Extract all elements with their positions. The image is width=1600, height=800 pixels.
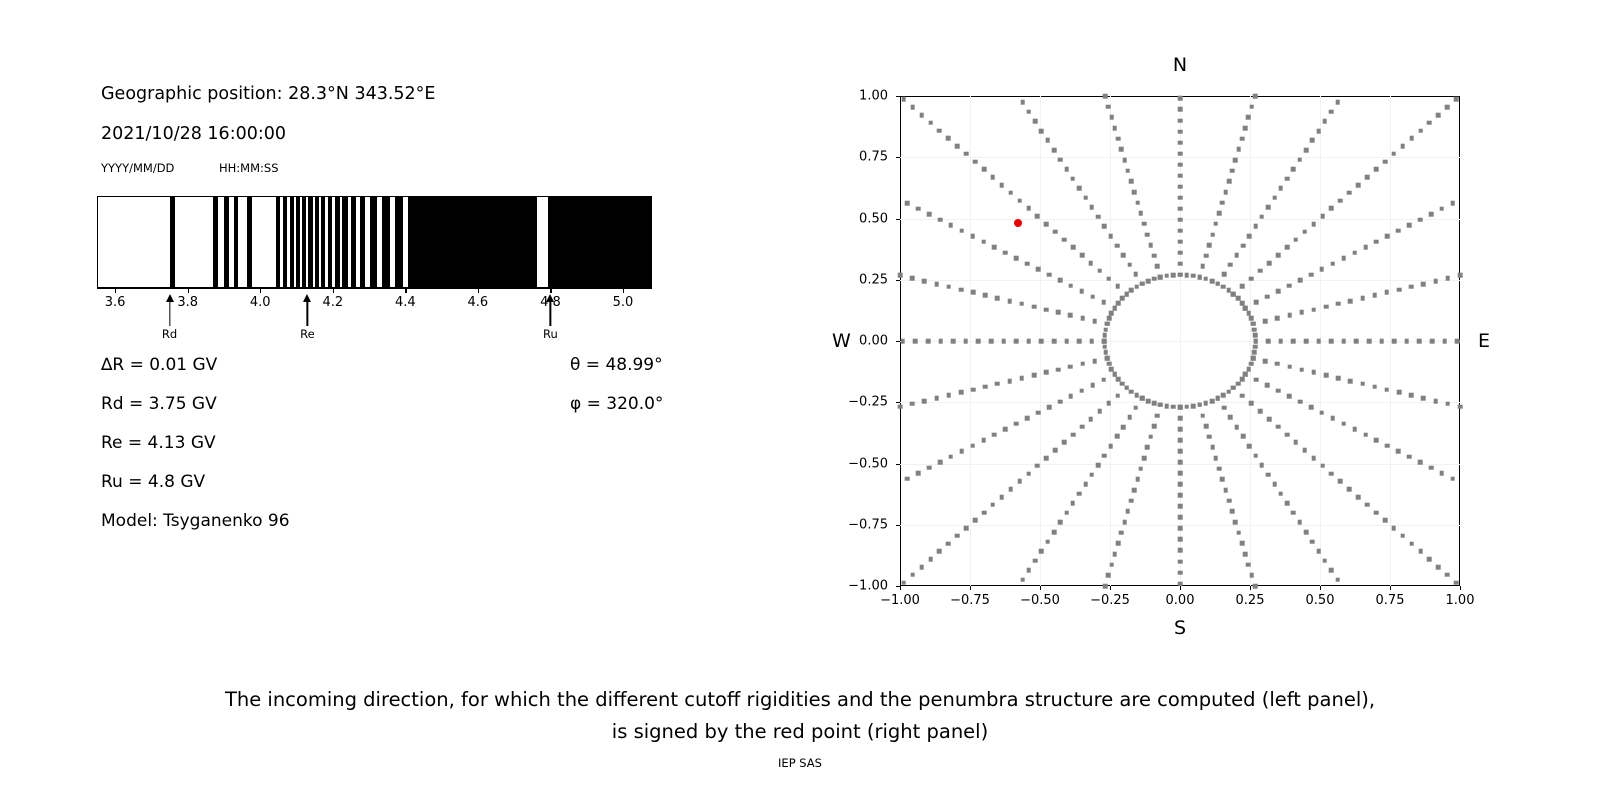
scatter-point [926, 339, 931, 344]
scatter-point [1329, 206, 1334, 211]
scatter-point [1287, 313, 1292, 318]
y-axis-tick [896, 157, 900, 158]
rigidity-axis-tick-label: 5.0 [613, 295, 634, 310]
scatter-point [1155, 264, 1160, 269]
param-re: Re = 4.13 GV [101, 433, 216, 453]
scatter-point [1341, 421, 1346, 426]
scatter-point [1275, 362, 1280, 367]
scatter-point [1214, 456, 1219, 461]
scatter-point [934, 282, 939, 287]
scatter-point [1014, 339, 1019, 344]
scatter-point [1071, 176, 1076, 181]
scatter-point [1129, 498, 1134, 503]
scatter-point [981, 438, 986, 443]
scatter-point [1053, 230, 1058, 235]
scatter-point [1231, 385, 1236, 390]
scatter-point [1263, 319, 1268, 324]
scatter-point [910, 573, 915, 578]
scatter-point [1178, 273, 1183, 278]
scatter-point [1260, 463, 1265, 468]
scatter-point [1184, 273, 1189, 278]
scatter-point [1178, 151, 1183, 156]
scatter-point [1027, 110, 1032, 115]
scatter-point [1365, 175, 1370, 180]
scatter-point [1451, 201, 1456, 206]
scatter-point [1372, 293, 1377, 298]
scatter-point [1132, 488, 1137, 493]
y-axis-tick [896, 586, 900, 587]
x-axis-tick [970, 586, 971, 590]
scatter-point [1080, 253, 1085, 258]
scatter-point [1210, 279, 1215, 284]
scatter-point [1324, 304, 1329, 309]
scatter-point [1251, 356, 1256, 361]
scatter-point [1240, 284, 1245, 289]
scatter-point [1089, 261, 1094, 266]
penumbra-forbidden-band [370, 197, 377, 287]
scatter-point [1120, 296, 1125, 301]
scatter-point [1079, 388, 1084, 393]
scatter-point [1445, 401, 1450, 406]
scatter-point [1052, 339, 1057, 344]
scatter-point [1249, 316, 1254, 321]
x-axis-tick-label: 0.00 [1166, 593, 1195, 608]
penumbra-forbidden-band [315, 197, 319, 287]
scatter-point [992, 432, 997, 437]
scatter-point [1372, 384, 1377, 389]
scatter-point [1071, 245, 1076, 250]
scatter-point [1119, 530, 1124, 535]
scatter-point [1421, 282, 1426, 287]
scatter-point [1374, 239, 1379, 244]
scatter-point [1251, 322, 1256, 327]
scatter-point [1047, 273, 1052, 278]
scatter-point [1204, 277, 1209, 282]
x-axis-tick-label: 1.00 [1446, 593, 1475, 608]
scatter-point [1329, 339, 1334, 344]
scatter-point [1020, 577, 1025, 582]
scatter-point [1102, 344, 1107, 349]
scatter-point [1316, 129, 1321, 134]
scatter-point [1247, 444, 1252, 449]
datetime-label: 2021/10/28 16:00:00 [101, 124, 286, 144]
scatter-point [1336, 376, 1341, 381]
scatter-point [1109, 311, 1114, 316]
penumbra-forbidden-band [351, 197, 356, 287]
x-axis-tick-label: −0.75 [950, 593, 990, 608]
scatter-point [983, 384, 988, 389]
scatter-point [1201, 413, 1206, 418]
scatter-point [970, 443, 975, 448]
scatter-point [1062, 237, 1067, 242]
scatter-point [1392, 526, 1397, 531]
penumbra-forbidden-band [247, 197, 251, 287]
scatter-point [1409, 136, 1414, 141]
rigidity-axis-tick [260, 288, 261, 293]
rigidity-axis-line [97, 288, 652, 289]
scatter-point [1106, 573, 1111, 578]
scatter-point [1374, 167, 1379, 172]
scatter-point [1234, 425, 1239, 430]
scatter-point [1105, 322, 1110, 327]
scatter-point [1064, 339, 1069, 344]
scatter-point [1272, 195, 1277, 200]
scatter-point [1090, 295, 1095, 300]
scatter-point [919, 565, 924, 570]
scatter-point [1071, 501, 1076, 506]
scatter-point [1374, 510, 1379, 515]
scatter-point [1068, 364, 1073, 369]
scatter-point [1032, 304, 1037, 309]
scatter-point [1089, 417, 1094, 422]
scatter-point [1178, 217, 1183, 222]
scatter-point [898, 404, 903, 409]
scatter-point [1341, 256, 1346, 261]
scatter-point [1080, 316, 1085, 321]
compass-east-label: E [1478, 330, 1490, 352]
scatter-point [1241, 434, 1246, 439]
scatter-point [1249, 573, 1254, 578]
penumbra-forbidden-band [360, 197, 365, 287]
scatter-point [1285, 432, 1290, 437]
y-axis-tick [896, 280, 900, 281]
scatter-point [1433, 399, 1438, 404]
y-axis-tick-label: −0.25 [848, 395, 888, 410]
scatter-point [1036, 267, 1041, 272]
scatter-point [913, 339, 918, 344]
scatter-point [910, 105, 915, 110]
scatter-point [1342, 339, 1347, 344]
scatter-point [1044, 307, 1049, 312]
scatter-point [1360, 296, 1365, 301]
scatter-point [1407, 223, 1412, 228]
scatter-point [1258, 409, 1263, 414]
x-axis-tick-label: −0.50 [1020, 593, 1060, 608]
rigidity-axis-tick [405, 288, 406, 293]
scatter-point [938, 460, 943, 465]
scatter-point [1171, 405, 1176, 410]
penumbra-forbidden-band [548, 197, 652, 287]
scatter-point [951, 339, 956, 344]
scatter-point [1058, 278, 1063, 283]
scatter-point [1240, 393, 1245, 398]
scatter-point [1103, 350, 1108, 355]
scatter-point [1260, 215, 1265, 220]
caption-line-2: is signed by the red point (right panel) [0, 716, 1600, 748]
scatter-point [1017, 198, 1022, 203]
footer-credit: IEP SAS [0, 756, 1600, 770]
scatter-point [976, 339, 981, 344]
scatter-point [1178, 239, 1183, 244]
scatter-point [1106, 276, 1111, 281]
scatter-point [1142, 222, 1147, 227]
y-axis-tick-label: −0.75 [848, 517, 888, 532]
scatter-point [1265, 383, 1270, 388]
x-axis-tick [1250, 586, 1251, 590]
penumbra-forbidden-band [276, 197, 280, 287]
scatter-point [1106, 401, 1111, 406]
scatter-point [995, 382, 1000, 387]
scatter-point [1249, 361, 1254, 366]
scatter-point [1311, 456, 1316, 461]
scatter-point [1102, 453, 1107, 458]
scatter-point [1146, 399, 1151, 404]
rigidity-axis-tick-label: 4.2 [322, 295, 343, 310]
penumbra-forbidden-band [408, 197, 537, 287]
scatter-point [1276, 289, 1281, 294]
scatter-point [1254, 300, 1259, 305]
scatter-point [982, 510, 987, 515]
scatter-point [1405, 339, 1410, 344]
scatter-point [1116, 136, 1121, 141]
penumbra-panel: Geographic position: 28.3°N 343.52°E 202… [0, 0, 800, 660]
rigidity-marker-label: Re [300, 327, 315, 341]
param-delta-r: ∆R = 0.01 GV [101, 355, 217, 375]
scatter-point [1178, 162, 1183, 167]
scatter-point [1035, 214, 1040, 219]
scatter-point [1090, 339, 1095, 344]
scatter-point [1120, 381, 1125, 386]
penumbra-forbidden-band [170, 197, 175, 287]
time-format-hint: HH:MM:SS [219, 161, 279, 175]
scatter-point [1279, 339, 1284, 344]
scatter-point [1304, 530, 1309, 535]
scatter-point [1310, 138, 1315, 143]
scatter-point [1253, 339, 1258, 344]
scatter-point [1299, 310, 1304, 315]
scatter-point [1383, 159, 1388, 164]
penumbra-bar [97, 196, 652, 288]
scatter-point [1083, 195, 1088, 200]
scatter-point [1108, 444, 1113, 449]
scatter-point [1155, 413, 1160, 418]
scatter-point [1178, 559, 1183, 564]
scatter-point [992, 245, 997, 250]
gridline-horizontal [900, 157, 1460, 158]
scatter-point [1058, 520, 1063, 525]
geographic-position-label: Geographic position: 28.3°N 343.52°E [101, 84, 436, 104]
scatter-point [1152, 277, 1157, 282]
scatter-point [1178, 129, 1183, 134]
scatter-point [1127, 415, 1132, 420]
scatter-point [1417, 339, 1422, 344]
scatter-point [1440, 471, 1445, 476]
scatter-point [927, 212, 932, 217]
scatter-point [1279, 186, 1284, 191]
scatter-point [964, 526, 969, 531]
scatter-point [1003, 251, 1008, 256]
scatter-point [1134, 272, 1139, 277]
scatter-point [1096, 215, 1101, 220]
arrow-shaft [169, 300, 170, 326]
compass-north-label: N [1173, 54, 1187, 76]
y-axis-tick [896, 341, 900, 342]
scatter-point [1027, 568, 1032, 573]
scatter-point [1101, 300, 1106, 305]
scatter-point [946, 393, 951, 398]
scatter-point [1033, 558, 1038, 563]
scatter-point [1222, 272, 1227, 277]
scatter-point [1252, 327, 1257, 332]
scatter-point [1298, 278, 1303, 283]
scatter-point [1112, 372, 1117, 377]
scatter-point [1352, 251, 1357, 256]
scatter-point [1122, 520, 1127, 525]
scatter-point [1304, 339, 1309, 344]
scatter-point [1178, 228, 1183, 233]
scatter-point [1445, 573, 1450, 578]
scatter-point [1429, 465, 1434, 470]
scatter-point [910, 276, 915, 281]
scatter-point [1020, 100, 1025, 105]
param-theta: θ = 48.99° [570, 355, 663, 375]
scatter-point [1210, 232, 1215, 237]
scatter-point [1287, 394, 1292, 399]
scatter-point [1108, 234, 1113, 239]
rigidity-axis-tick [115, 288, 116, 293]
scatter-point [1052, 148, 1057, 153]
scatter-point [1080, 424, 1085, 429]
scatter-point [928, 557, 933, 562]
scatter-point [1356, 183, 1361, 188]
scatter-point [898, 273, 903, 278]
scatter-point [1418, 460, 1423, 465]
scatter-point [1178, 251, 1183, 256]
scatter-point [1207, 435, 1212, 440]
scatter-point [1178, 482, 1183, 487]
scatter-point [934, 396, 939, 401]
scatter-point [1275, 316, 1280, 321]
scatter-point [1338, 479, 1343, 484]
scatter-point [1266, 472, 1271, 477]
scatter-point [1134, 393, 1139, 398]
scatter-point [1291, 339, 1296, 344]
scatter-point [1418, 549, 1423, 554]
scatter-point [1385, 234, 1390, 239]
scatter-point [1294, 440, 1299, 445]
scatter-point [1148, 435, 1153, 440]
scatter-point [1330, 416, 1335, 421]
scatter-point [1033, 119, 1038, 124]
scatter-point [1102, 339, 1107, 344]
scatter-point [1080, 362, 1085, 367]
scatter-point [1090, 383, 1095, 388]
scatter-point [1329, 471, 1334, 476]
scatter-point [1178, 449, 1183, 454]
scatter-point [1455, 339, 1460, 344]
scatter-point [1360, 382, 1365, 387]
y-axis-tick-label: 0.75 [859, 150, 888, 165]
scatter-point [1228, 415, 1233, 420]
scatter-point [1233, 158, 1238, 163]
scatter-point [1124, 385, 1129, 390]
scatter-point [1207, 243, 1212, 248]
scatter-point [1204, 254, 1209, 259]
scatter-point [1178, 206, 1183, 211]
scatter-point [1407, 454, 1412, 459]
scatter-point [1064, 167, 1069, 172]
scatter-point [1109, 562, 1114, 567]
scatter-point [1146, 279, 1151, 284]
scatter-point [959, 287, 964, 292]
scatter-point [1112, 552, 1117, 557]
scatter-point [959, 449, 964, 454]
scatter-point [1135, 477, 1140, 482]
scatter-point [1090, 205, 1095, 210]
penumbra-forbidden-band [382, 197, 390, 287]
scatter-point [1433, 279, 1438, 284]
scatter-point [1247, 234, 1252, 239]
x-axis-tick-label: 0.25 [1236, 593, 1265, 608]
scatter-point [1454, 97, 1459, 102]
scatter-point [1385, 290, 1390, 295]
scatter-point [1098, 409, 1103, 414]
scatter-point [1093, 319, 1098, 324]
scatter-point [1093, 359, 1098, 364]
scatter-point [1178, 416, 1183, 421]
scatter-point [1045, 539, 1050, 544]
scatter-point [1267, 417, 1272, 422]
scatter-point [937, 128, 942, 133]
scatter-point [1243, 306, 1248, 311]
penumbra-forbidden-band [224, 197, 229, 287]
scatter-point [1230, 168, 1235, 173]
scatter-point [1385, 443, 1390, 448]
scatter-point [1145, 445, 1150, 450]
gridline-horizontal [900, 402, 1460, 403]
scatter-point [1312, 307, 1317, 312]
scatter-point [1287, 364, 1292, 369]
scatter-point [1276, 253, 1281, 258]
scatter-point [1458, 273, 1463, 278]
scatter-point [1276, 424, 1281, 429]
scatter-point [1226, 389, 1231, 394]
scatter-point [1178, 173, 1183, 178]
scatter-point [1178, 504, 1183, 509]
scatter-point [1220, 200, 1225, 205]
scatter-point [1032, 373, 1037, 378]
scatter-point [982, 167, 987, 172]
penumbra-forbidden-band [395, 197, 403, 287]
param-ru: Ru = 4.8 GV [101, 472, 205, 492]
rigidity-axis-tick [623, 288, 624, 293]
penumbra-forbidden-band [213, 197, 218, 287]
scatter-point [1068, 313, 1073, 318]
arrow-shaft [307, 300, 308, 326]
scatter-point [1158, 403, 1163, 408]
scatter-point [1253, 584, 1258, 589]
scatter-point [1152, 254, 1157, 259]
y-axis-tick-label: 0.00 [859, 334, 888, 349]
scatter-point [1409, 393, 1414, 398]
scatter-point [1445, 276, 1450, 281]
scatter-point [959, 390, 964, 395]
x-axis-tick [1320, 586, 1321, 590]
scatter-point [1142, 456, 1147, 461]
scatter-point [1178, 526, 1183, 531]
scatter-point [1316, 339, 1321, 344]
scatter-point [1103, 584, 1108, 589]
scatter-point [1427, 557, 1432, 562]
scatter-point [1112, 306, 1117, 311]
scatter-point [1129, 179, 1134, 184]
y-axis-tick-label: 0.25 [859, 272, 888, 287]
scatter-point [1294, 237, 1299, 242]
scatter-point [1287, 284, 1292, 289]
scatter-point [1249, 276, 1254, 281]
scatter-point [1241, 243, 1246, 248]
scatter-point [1309, 273, 1314, 278]
